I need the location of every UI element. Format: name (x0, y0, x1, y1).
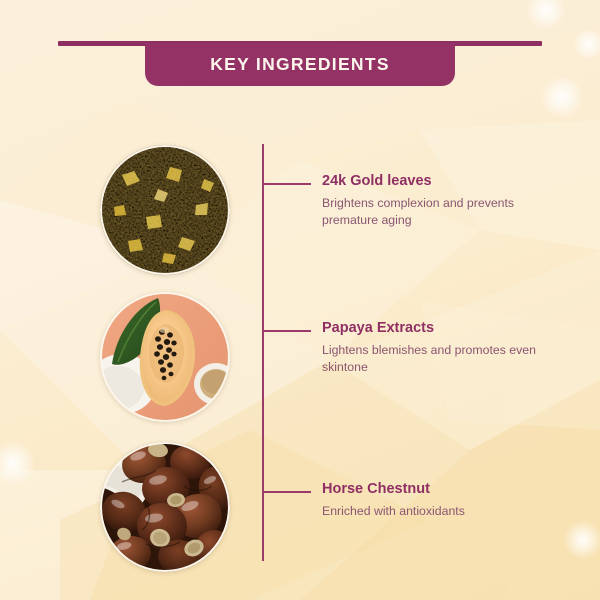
ingredient-image-horse-chestnut (100, 442, 230, 572)
ingredient-image-gold-leaves (100, 145, 230, 275)
ingredient-title: Papaya Extracts (322, 320, 572, 337)
timeline-tick (263, 491, 311, 493)
key-ingredients-poster: KEY INGREDIENTS (0, 0, 600, 600)
timeline-connector (262, 144, 264, 561)
timeline-tick (263, 183, 311, 185)
page-title: KEY INGREDIENTS (210, 54, 390, 75)
ingredient-description: Brightens complexion and prevents premat… (322, 195, 572, 228)
ingredient-text-gold-leaves: 24k Gold leaves Brightens complexion and… (322, 173, 572, 228)
ingredient-text-papaya: Papaya Extracts Lightens blemishes and p… (322, 320, 572, 375)
ingredient-title: Horse Chestnut (322, 481, 572, 498)
ingredient-image-papaya (100, 292, 230, 422)
timeline-tick (263, 330, 311, 332)
ingredient-description: Enriched with antioxidants (322, 503, 572, 520)
ingredient-description: Lightens blemishes and promotes even ski… (322, 342, 572, 375)
ingredient-text-horse-chestnut: Horse Chestnut Enriched with antioxidant… (322, 481, 572, 520)
ingredient-title: 24k Gold leaves (322, 173, 572, 190)
header-banner: KEY INGREDIENTS (145, 43, 455, 86)
